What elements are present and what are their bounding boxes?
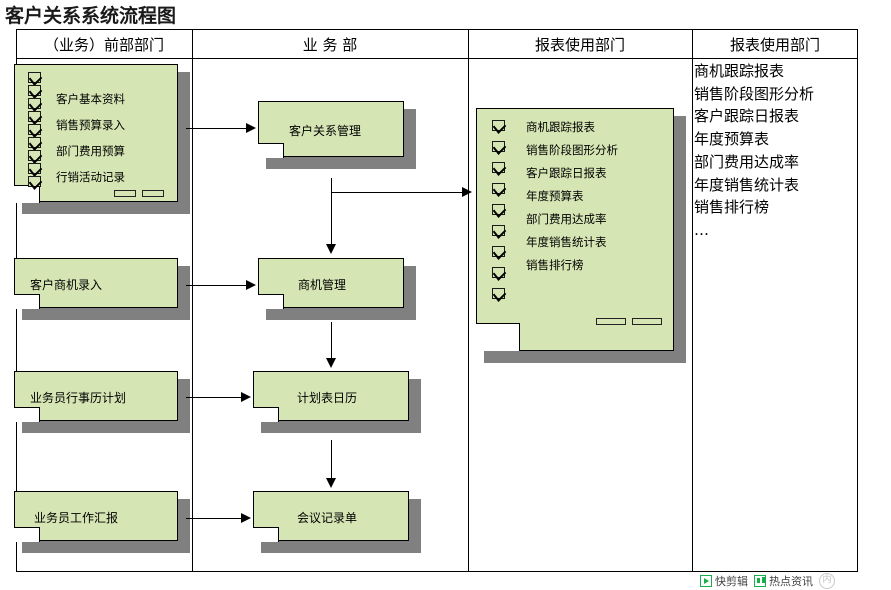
connector-arrowhead: [241, 392, 251, 402]
doc-customer-opportunity-entry[interactable]: 客户商机录入: [14, 258, 190, 320]
doc-label: 客户关系管理: [289, 122, 361, 139]
connector-line: [331, 192, 464, 193]
connector-arrowhead: [246, 280, 256, 290]
doc-minibar: [596, 318, 626, 325]
list-item: 客户基本资料: [56, 91, 125, 107]
doc-salesperson-work-report[interactable]: 业务员工作汇报: [14, 491, 190, 553]
column-header-4: 报表使用部门: [692, 33, 858, 57]
column-header-2: 业 务 部: [192, 33, 468, 57]
checkbox-checked-icon[interactable]: [492, 120, 505, 131]
column-divider-2: [468, 29, 469, 572]
list-item: 销售排行榜: [694, 196, 854, 219]
circular-watermark-icon: 内: [819, 573, 835, 589]
doc-minibar: [142, 190, 164, 197]
checkbox-checked-icon[interactable]: [28, 98, 41, 109]
footer-item-label: 热点资讯: [769, 573, 813, 589]
checkbox-checked-icon[interactable]: [492, 204, 505, 215]
play-square-icon: [700, 575, 712, 587]
report-text-list: 商机跟踪报表 销售阶段图形分析 客户跟踪日报表 年度预算表 部门费用达成率 年度…: [694, 60, 854, 242]
footer-watermark-bar: 快剪辑 热点资讯 内: [700, 572, 891, 590]
column-divider-3: [692, 29, 693, 572]
column-header-1: （业务）前部部门: [16, 33, 192, 57]
footer-item-hotnews[interactable]: 热点资讯: [754, 573, 813, 589]
list-item: 年度预算表: [526, 188, 584, 204]
doc-fold: [476, 323, 520, 351]
list-item: 部门费用达成率: [526, 211, 607, 227]
flowchart-page: 客户关系系统流程图 （业务）前部部门 业 务 部 报表使用部门 报表使用部门 客…: [0, 0, 891, 590]
checkbox-checked-icon[interactable]: [28, 176, 41, 187]
column-divider-1: [192, 29, 193, 572]
connector-line: [331, 178, 332, 246]
list-item: 客户跟踪日报表: [526, 165, 607, 181]
doc-label: 会议记录单: [297, 509, 357, 526]
header-divider: [16, 58, 858, 59]
doc-schedule-calendar[interactable]: 计划表日历: [253, 371, 421, 433]
checkbox-checked-icon[interactable]: [28, 72, 41, 83]
list-item: 销售阶段图形分析: [694, 83, 854, 106]
page-title: 客户关系系统流程图: [5, 1, 176, 28]
list-item: 销售预算录入: [56, 117, 125, 133]
doc-label: 业务员行事历计划: [30, 389, 126, 406]
doc-salesperson-calendar-plan[interactable]: 业务员行事历计划: [14, 371, 190, 433]
checkbox-checked-icon[interactable]: [492, 162, 505, 173]
doc-label: 计划表日历: [297, 389, 357, 406]
checkbox-checked-icon[interactable]: [492, 246, 505, 257]
checkbox-checked-icon[interactable]: [28, 111, 41, 122]
connector-arrowhead: [246, 123, 256, 133]
doc-crm-management[interactable]: 客户关系管理: [258, 101, 416, 169]
doc-fold: [14, 527, 40, 542]
checkbox-checked-icon[interactable]: [492, 183, 505, 194]
doc-fold: [14, 294, 40, 309]
doc-label: 业务员工作汇报: [34, 509, 118, 526]
checkbox-checked-icon[interactable]: [492, 225, 505, 236]
list-item: 商机跟踪报表: [694, 60, 854, 83]
connector-line: [331, 322, 332, 360]
checkbox-checked-icon[interactable]: [492, 288, 505, 299]
connector-arrowhead: [326, 244, 336, 254]
doc-fold: [253, 407, 279, 422]
connector-arrowhead: [326, 478, 336, 488]
connector-line: [186, 518, 243, 519]
checkbox-checked-icon[interactable]: [28, 137, 41, 148]
news-square-icon: [754, 575, 766, 587]
list-item: 客户跟踪日报表: [694, 105, 854, 128]
checkbox-checked-icon[interactable]: [28, 150, 41, 161]
connector-line: [186, 128, 248, 129]
list-item: 行销活动记录: [56, 169, 125, 185]
list-item: …: [694, 219, 854, 242]
doc-label: 商机管理: [298, 276, 346, 293]
list-item: 部门费用预算: [56, 143, 125, 159]
doc-customer-basic-data[interactable]: 客户基本资料 销售预算录入 部门费用预算 行销活动记录: [14, 64, 190, 214]
checkbox-checked-icon[interactable]: [28, 163, 41, 174]
footer-item-label: 快剪辑: [715, 573, 748, 589]
column-header-3: 报表使用部门: [468, 33, 692, 57]
list-item: 年度销售统计表: [694, 174, 854, 197]
list-item: 销售阶段图形分析: [526, 142, 618, 158]
connector-arrowhead: [326, 358, 336, 368]
list-item: 商机跟踪报表: [526, 119, 595, 135]
footer-item-kuaijianji[interactable]: 快剪辑: [700, 573, 748, 589]
doc-fold: [253, 527, 279, 542]
doc-report-list[interactable]: 商机跟踪报表 销售阶段图形分析 客户跟踪日报表 年度预算表 部门费用达成率 年度…: [476, 108, 686, 363]
checkbox-checked-icon[interactable]: [28, 85, 41, 96]
doc-minibar: [114, 190, 136, 197]
list-item: 年度销售统计表: [526, 234, 607, 250]
doc-meeting-minutes[interactable]: 会议记录单: [253, 491, 421, 553]
doc-label: 客户商机录入: [30, 276, 102, 293]
doc-minibar: [632, 318, 662, 325]
connector-arrowhead: [241, 513, 251, 523]
list-item: 部门费用达成率: [694, 151, 854, 174]
checkbox-checked-icon[interactable]: [492, 267, 505, 278]
list-item: 年度预算表: [694, 128, 854, 151]
doc-fold: [258, 294, 284, 309]
doc-fold: [258, 143, 284, 158]
connector-arrowhead: [462, 187, 472, 197]
checkbox-checked-icon[interactable]: [492, 141, 505, 152]
checkbox-checked-icon[interactable]: [28, 124, 41, 135]
doc-opportunity-management[interactable]: 商机管理: [258, 258, 416, 320]
connector-line: [331, 440, 332, 480]
connector-line: [186, 285, 248, 286]
list-item: 销售排行榜: [526, 257, 584, 273]
connector-line: [186, 397, 243, 398]
doc-fold: [14, 407, 40, 422]
